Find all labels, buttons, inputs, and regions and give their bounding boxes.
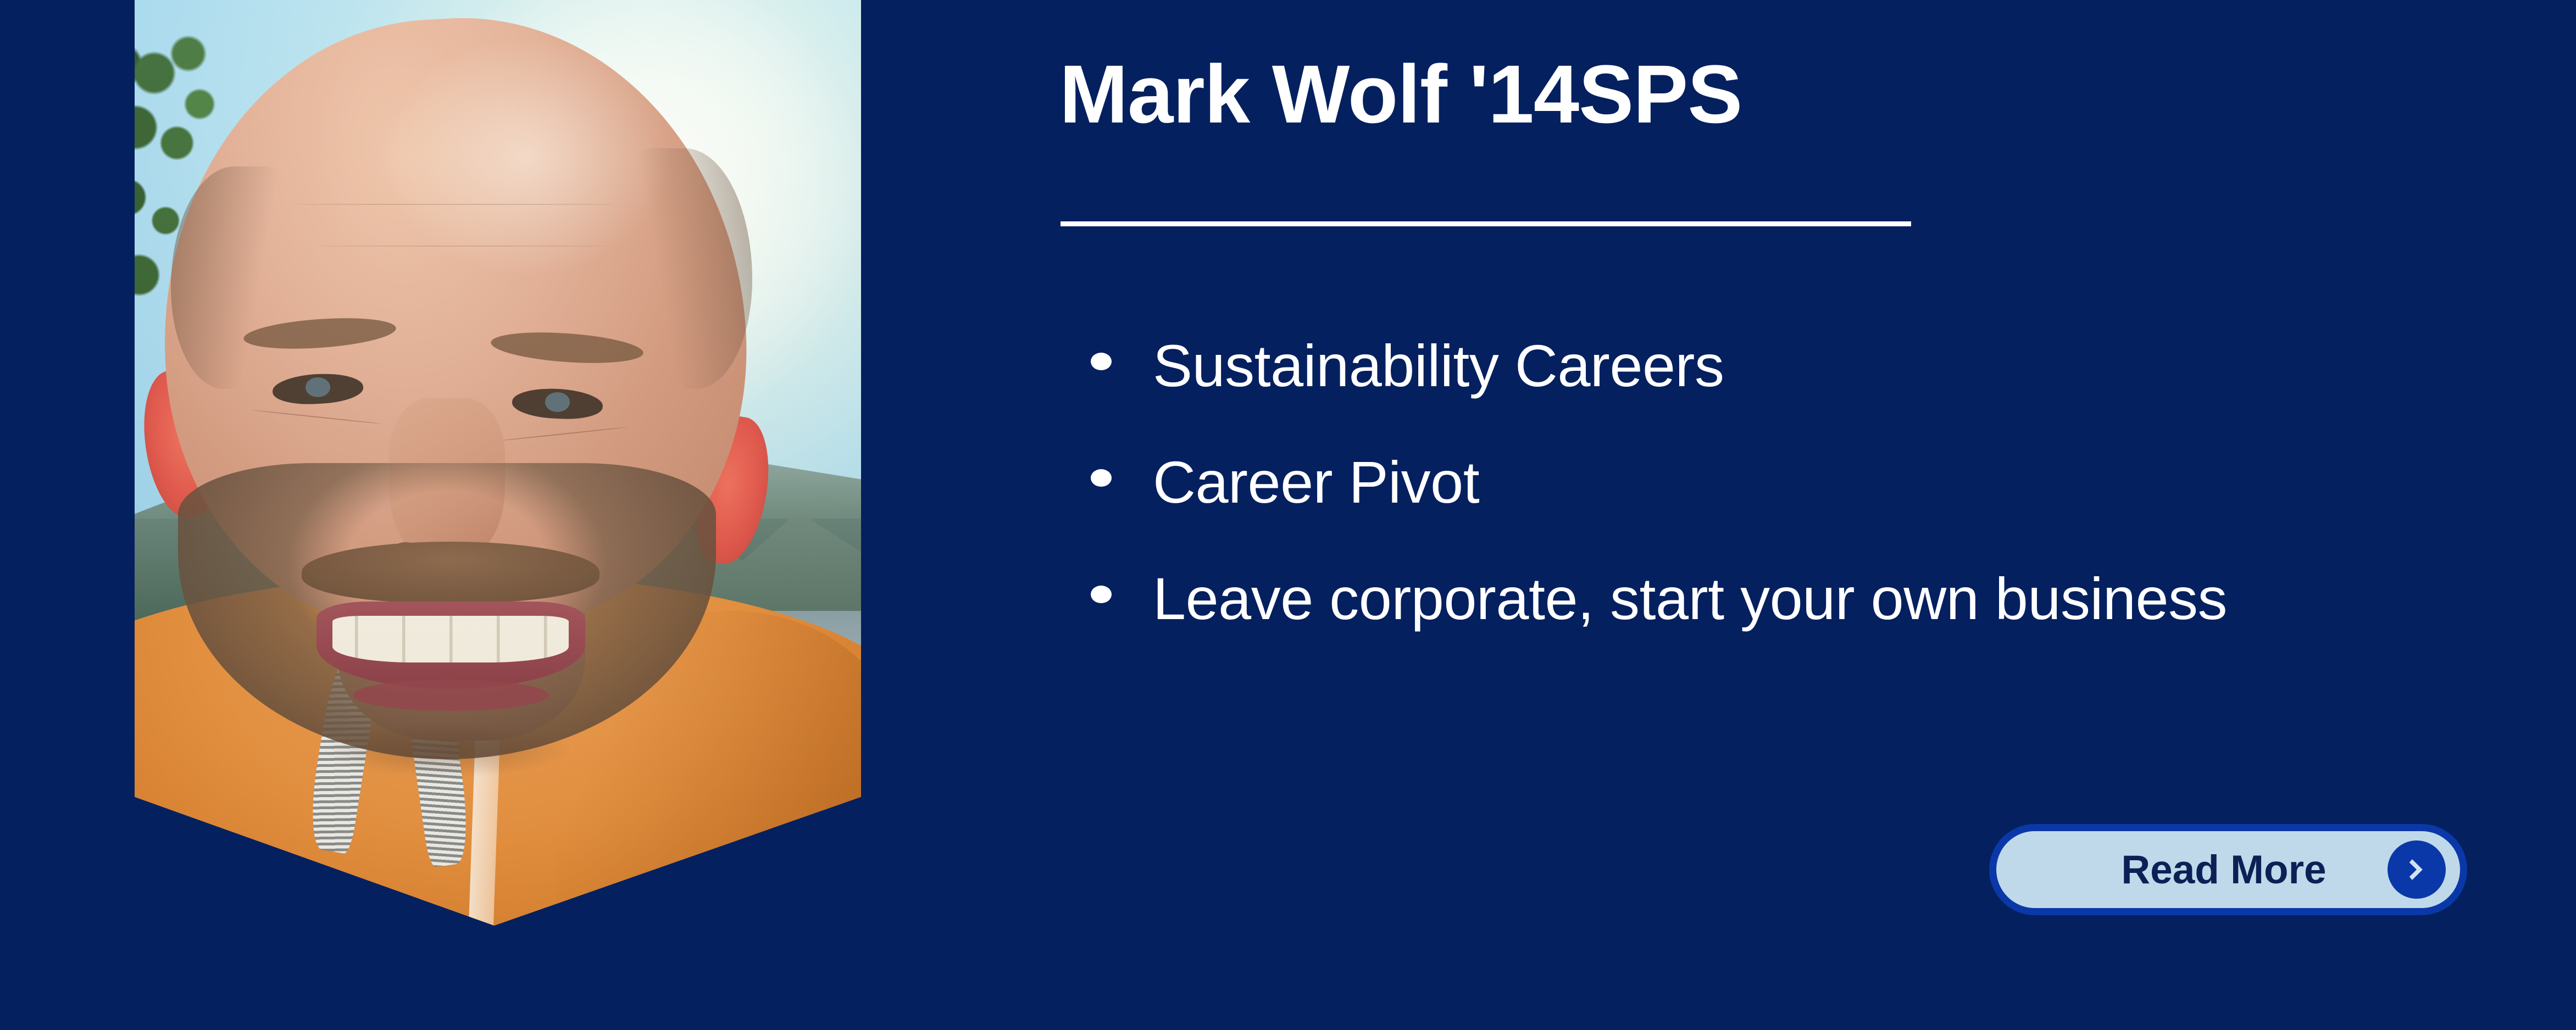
list-item-label: Sustainability Careers bbox=[1153, 308, 2356, 424]
iris-right bbox=[545, 392, 570, 411]
hair-stubble-left bbox=[171, 166, 287, 388]
read-more-label: Read More bbox=[2121, 847, 2326, 893]
profile-content: Mark Wolf '14SPS Sustainability Careers … bbox=[1059, 0, 2466, 1030]
person bbox=[135, 0, 861, 926]
bullet-dot-icon bbox=[1091, 469, 1112, 487]
alumni-profile-card: Mark Wolf '14SPS Sustainability Careers … bbox=[0, 0, 2576, 1030]
forehead-wrinkle bbox=[317, 246, 607, 247]
mouth bbox=[317, 602, 585, 688]
chevron-right-icon[interactable] bbox=[2388, 840, 2446, 899]
bullet-dot-icon bbox=[1091, 353, 1112, 370]
title-divider bbox=[1061, 221, 1911, 226]
list-item: Leave corporate, start your own business bbox=[1059, 541, 2356, 657]
chin-shadow bbox=[324, 722, 570, 777]
list-item-label: Leave corporate, start your own business bbox=[1153, 541, 2356, 657]
teeth bbox=[332, 616, 569, 663]
list-item: Sustainability Careers bbox=[1059, 308, 2356, 424]
profile-photo bbox=[135, 0, 861, 926]
read-more-button[interactable]: Read More bbox=[1989, 824, 2467, 915]
list-item-label: Career Pivot bbox=[1153, 424, 2356, 541]
iris-left bbox=[306, 377, 330, 397]
topics-list: Sustainability Careers Career Pivot Leav… bbox=[1059, 308, 2356, 657]
mustache bbox=[302, 542, 599, 603]
forehead-wrinkle bbox=[295, 204, 614, 205]
list-item: Career Pivot bbox=[1059, 424, 2356, 541]
page-title: Mark Wolf '14SPS bbox=[1059, 49, 2268, 138]
hair-stubble-right bbox=[629, 148, 752, 389]
bullet-dot-icon bbox=[1091, 586, 1112, 603]
profile-photo-image bbox=[135, 0, 861, 926]
lower-lip bbox=[353, 680, 549, 711]
